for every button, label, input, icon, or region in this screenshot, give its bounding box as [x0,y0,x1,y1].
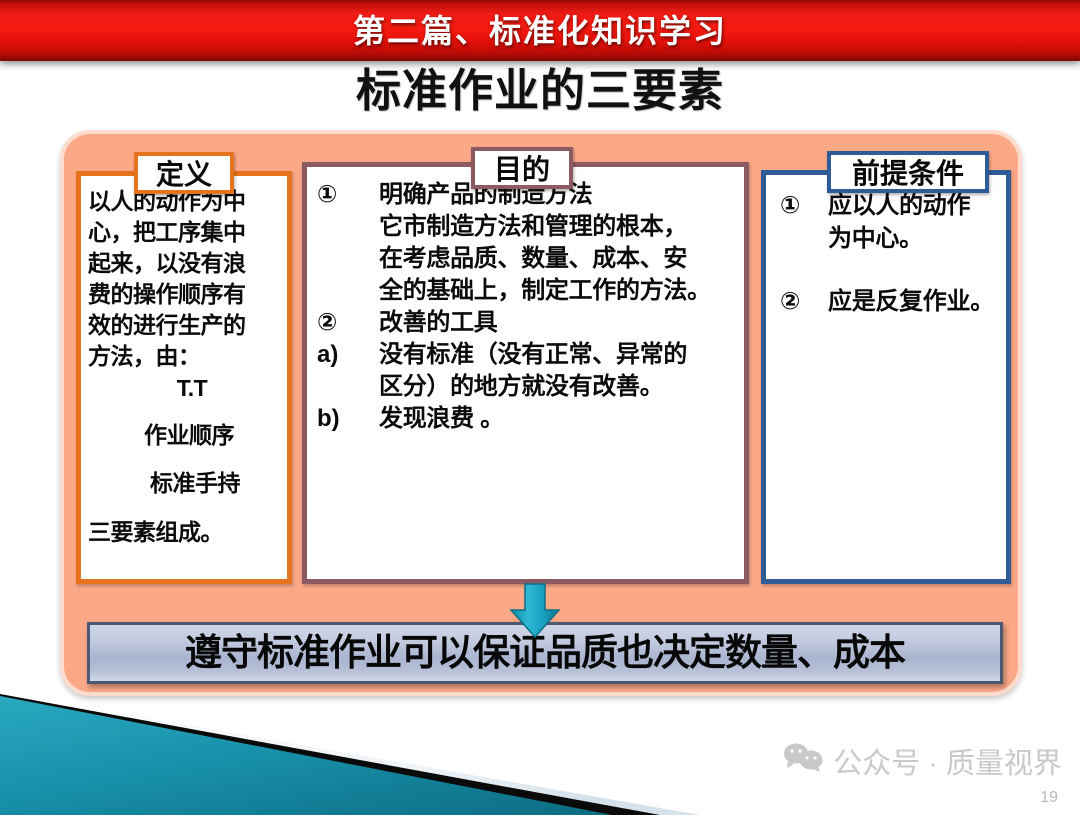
definition-element: T.T [104,373,280,404]
panel-precondition: ① 应以人的动作 为中心。 ② 应是反复作业。 [761,170,1011,584]
wechat-icon [783,742,823,780]
definition-element: 标准手持 [110,468,280,499]
purpose-item-marker: ② [317,307,379,339]
purpose-line: 全的基础上，制定工作的方法。 [379,275,736,307]
precondition-line: 应是反复作业。 [828,285,1000,318]
purpose-item: a) 没有标准（没有正常、异常的 区分）的地方就没有改善。 [317,339,736,403]
purpose-item: ① 明确产品的制造方法 它市制造方法和管理的根本， 在考虑品质、数量、成本、安 … [317,179,736,307]
definition-element: 作业顺序 [98,420,280,451]
purpose-line: 区分）的地方就没有改善。 [379,371,736,403]
precondition-item-marker: ① [772,189,828,222]
purpose-item: ② 改善的工具 [317,307,736,339]
definition-line: 心，把工序集中 [88,217,280,248]
definition-line: 费的操作顺序有 [88,279,280,310]
panel-definition: 以人的动作为中 心，把工序集中 起来，以没有浪 费的操作顺序有 效的进行生产的 … [76,171,292,584]
definition-closing: 三要素组成。 [88,517,280,548]
precondition-line: 应以人的动作 [828,189,1000,222]
definition-body: 以人的动作为中 心，把工序集中 起来，以没有浪 费的操作顺序有 效的进行生产的 … [81,176,287,548]
definition-line: 方法，由： [88,341,280,372]
purpose-item-marker: a) [317,339,379,371]
purpose-line: 在考虑品质、数量、成本、安 [379,243,736,275]
purpose-body: ① 明确产品的制造方法 它市制造方法和管理的根本， 在考虑品质、数量、成本、安 … [307,167,744,435]
watermark-text: 公众号 · 质量视界 [833,740,1062,782]
purpose-item-text: 改善的工具 [379,307,736,339]
purpose-line: 发现浪费 。 [379,403,736,435]
precondition-item: ① 应以人的动作 为中心。 [772,189,1000,255]
purpose-item-marker: ① [317,179,379,211]
purpose-line: 它市制造方法和管理的根本， [379,211,736,243]
precondition-body: ① 应以人的动作 为中心。 ② 应是反复作业。 [766,175,1006,318]
purpose-item: b) 发现浪费 。 [317,403,736,435]
purpose-item-text: 发现浪费 。 [379,403,736,435]
precondition-item-text: 应以人的动作 为中心。 [828,189,1000,255]
purpose-line: 没有标准（没有正常、异常的 [379,339,736,371]
page-title: 标准作业的三要素 [0,62,1080,120]
page-number: 19 [1040,789,1058,807]
precondition-item-marker: ② [772,285,828,318]
definition-line: 起来，以没有浪 [88,248,280,279]
header-banner: 第二篇、标准化知识学习 [0,0,1080,61]
tab-precondition: 前提条件 [827,151,989,193]
tab-definition: 定义 [134,152,234,194]
purpose-item-text: 没有标准（没有正常、异常的 区分）的地方就没有改善。 [379,339,736,403]
header-banner-title: 第二篇、标准化知识学习 [0,6,1080,52]
content-container: 以人的动作为中 心，把工序集中 起来，以没有浪 费的操作顺序有 效的进行生产的 … [60,130,1022,696]
purpose-line: 改善的工具 [379,307,736,339]
panel-purpose: ① 明确产品的制造方法 它市制造方法和管理的根本， 在考虑品质、数量、成本、安 … [302,162,749,584]
down-arrow-icon [507,582,563,640]
purpose-item-text: 明确产品的制造方法 它市制造方法和管理的根本， 在考虑品质、数量、成本、安 全的… [379,179,736,307]
watermark: 公众号 · 质量视界 [783,740,1062,782]
precondition-line: 为中心。 [828,222,1000,255]
precondition-item-text: 应是反复作业。 [828,285,1000,318]
tab-purpose: 目的 [471,147,573,189]
definition-line: 效的进行生产的 [88,310,280,341]
purpose-item-marker: b) [317,403,379,435]
precondition-item: ② 应是反复作业。 [772,285,1000,318]
